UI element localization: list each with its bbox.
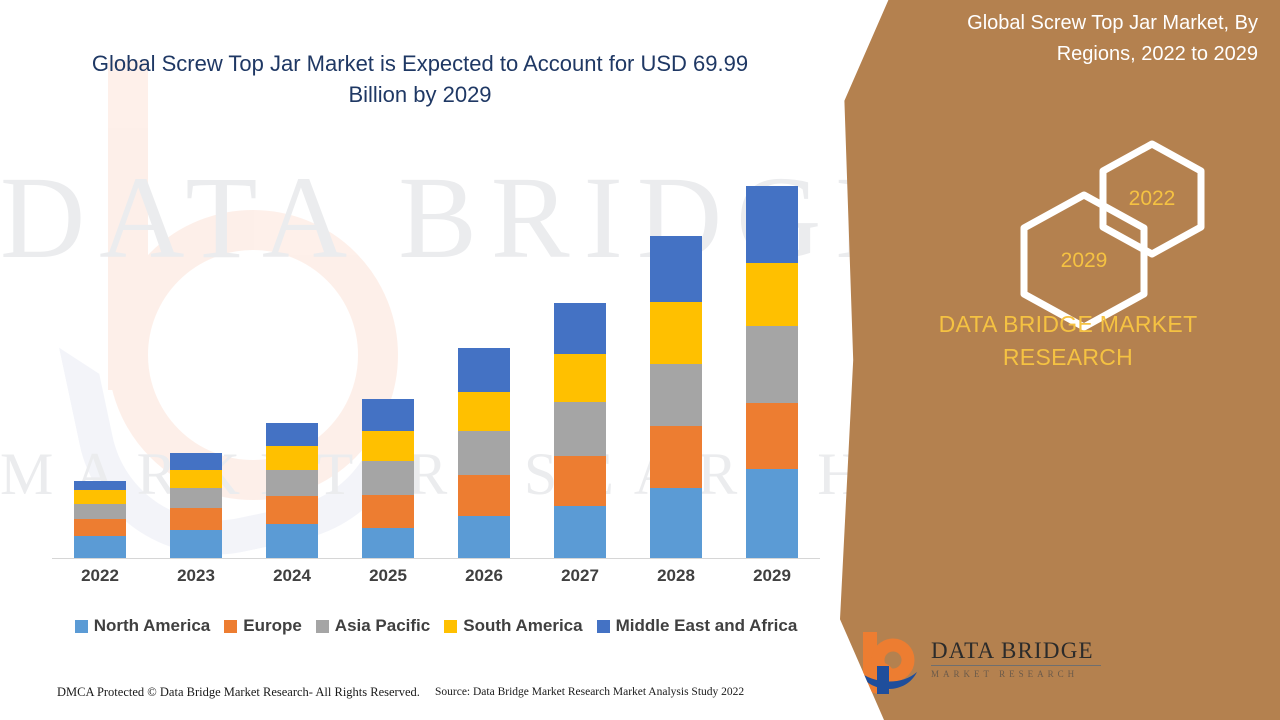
bar-segment [362,528,414,559]
bar-segment [266,446,318,470]
stacked-bar [554,303,606,559]
data-bridge-b-logo-icon [855,630,925,696]
bar-column [148,150,244,559]
hexagon-group: 2022 2029 [840,140,1280,290]
bar-segment [650,236,702,302]
bar-segment [170,453,222,470]
bar-segment [362,461,414,495]
bar-segment [74,536,126,559]
bar-segment [266,496,318,524]
bar-segment [362,431,414,461]
legend-item[interactable]: North America [75,616,211,636]
bar-segment [74,504,126,519]
bar-segment [554,303,606,354]
bar-segment [650,426,702,488]
legend-swatch-icon [316,620,329,633]
x-axis-label: 2026 [436,566,532,594]
x-axis-label: 2023 [148,566,244,594]
bar-segment [170,508,222,530]
bar-segment [746,263,798,326]
bar-segment [74,481,126,490]
bar-segment [746,469,798,559]
bar-segment [266,524,318,559]
data-bridge-logo: DATA BRIDGE MARKET RESEARCH [855,630,1095,700]
stacked-bar [650,236,702,559]
chart-legend: North AmericaEuropeAsia PacificSouth Ame… [52,616,820,636]
bar-segment [554,506,606,559]
stacked-bar [746,186,798,559]
bar-segment [746,186,798,263]
bar-segment [650,364,702,426]
bar-segment [650,488,702,559]
stacked-bar [170,453,222,559]
bar-column [340,150,436,559]
bar-segment [266,423,318,446]
legend-swatch-icon [75,620,88,633]
legend-label: Middle East and Africa [616,616,798,636]
panel-title: Global Screw Top Jar Market, By Regions,… [890,8,1258,70]
x-axis-label: 2027 [532,566,628,594]
footer-source: Source: Data Bridge Market Research Mark… [435,686,744,698]
stacked-bar [362,399,414,559]
bar-segment [170,488,222,508]
bar-segment [362,399,414,431]
legend-item[interactable]: Asia Pacific [316,616,430,636]
x-axis-label: 2029 [724,566,820,594]
footer-copyright: DMCA Protected © Data Bridge Market Rese… [57,685,420,700]
stacked-bar [266,423,318,559]
stacked-bar [458,348,510,559]
legend-item[interactable]: Middle East and Africa [597,616,798,636]
x-axis-label: 2022 [52,566,148,594]
bar-segment [458,431,510,475]
bar-segment [746,403,798,469]
bar-segment [362,495,414,528]
bar-column [436,150,532,559]
bar-segment [554,402,606,456]
logo-subtitle: MARKET RESEARCH [931,668,1101,680]
legend-label: Asia Pacific [335,616,430,636]
bar-column [52,150,148,559]
legend-label: South America [463,616,582,636]
legend-item[interactable]: Europe [224,616,302,636]
legend-label: North America [94,616,211,636]
bar-segment [554,354,606,402]
legend-item[interactable]: South America [444,616,582,636]
legend-swatch-icon [444,620,457,633]
logo-divider [931,665,1101,666]
bar-segment [170,470,222,488]
right-brand-panel: Global Screw Top Jar Market, By Regions,… [840,0,1280,720]
stacked-bar-chart [52,150,820,559]
bar-segment [74,490,126,504]
legend-swatch-icon [597,620,610,633]
bar-segment [458,516,510,559]
logo-title: DATA BRIDGE [931,638,1101,664]
infographic-page: DATA BRIDGE MARKET RESEARCH Global Screw… [0,0,1280,720]
brand-name: DATA BRIDGE MARKET RESEARCH [880,308,1256,374]
bar-segment [458,348,510,392]
bar-segment [746,326,798,403]
bar-column [628,150,724,559]
x-axis-labels: 20222023202420252026202720282029 [52,566,820,594]
bar-segment [170,530,222,559]
bar-column [532,150,628,559]
bar-segment [458,392,510,431]
legend-label: Europe [243,616,302,636]
bar-column [724,150,820,559]
bar-segment [650,302,702,364]
bar-segment [266,470,318,496]
stacked-bar [74,481,126,559]
x-axis-line [52,558,820,559]
legend-swatch-icon [224,620,237,633]
x-axis-label: 2024 [244,566,340,594]
x-axis-label: 2028 [628,566,724,594]
bar-column [244,150,340,559]
chart-title: Global Screw Top Jar Market is Expected … [70,48,770,110]
bar-segment [74,519,126,536]
bar-segment [458,475,510,516]
x-axis-label: 2025 [340,566,436,594]
bar-segment [554,456,606,506]
